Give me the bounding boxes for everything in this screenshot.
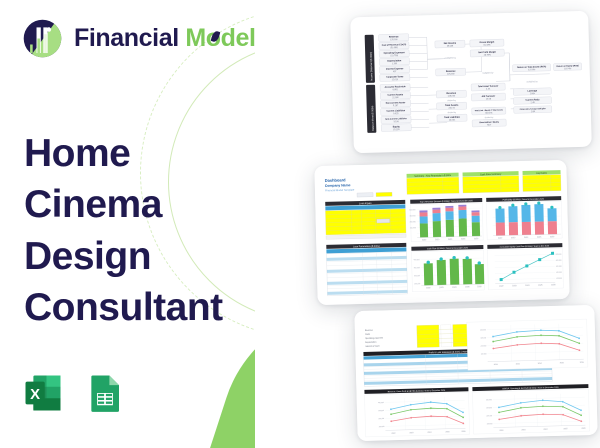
- financial-model-circle-chart-logo-icon: [22, 18, 63, 59]
- svg-text:300,000: 300,000: [556, 266, 562, 268]
- file-format-icons: X: [22, 372, 126, 414]
- svg-text:2023: 2023: [410, 432, 414, 434]
- svg-text:200,000: 200,000: [486, 415, 492, 417]
- svg-text:2024: 2024: [525, 285, 529, 287]
- svg-text:450,000: 450,000: [409, 215, 415, 217]
- svg-text:(51,680): (51,680): [390, 47, 398, 49]
- page-title-line-3: Design: [24, 231, 223, 282]
- svg-text:2024: 2024: [428, 432, 432, 434]
- svg-text:2022: 2022: [498, 238, 502, 240]
- svg-text:300,000: 300,000: [410, 221, 416, 223]
- svg-text:100,000: 100,000: [379, 426, 385, 428]
- svg-text:2024: 2024: [524, 237, 528, 239]
- brand-name-part1: Financial: [74, 24, 179, 52]
- svg-text:2025: 2025: [560, 362, 564, 364]
- svg-text:100,000: 100,000: [487, 423, 493, 425]
- svg-text:Financial Model Template: Financial Model Template: [325, 188, 355, 193]
- svg-text:2022: 2022: [426, 287, 430, 289]
- svg-text:2023: 2023: [516, 363, 520, 365]
- svg-text:2026: 2026: [462, 431, 466, 433]
- svg-text:300,000: 300,000: [486, 407, 492, 409]
- dupont-flowchart-svg: Income Statement ($ 000s) Balance Sheet …: [356, 19, 585, 145]
- profitability-combo-chart: Profitability ($ 000s) | Years to Decemb…: [486, 196, 562, 240]
- brand-name-part2-post: del: [221, 24, 256, 52]
- svg-text:multiplied by: multiplied by: [445, 56, 456, 59]
- svg-text:2025: 2025: [563, 428, 567, 430]
- svg-text:2022: 2022: [499, 430, 503, 432]
- svg-text:(23,758): (23,758): [390, 55, 398, 57]
- svg-text:2022: 2022: [494, 364, 498, 366]
- svg-text:500,000: 500,000: [556, 254, 562, 256]
- svg-text:125,000: 125,000: [448, 95, 456, 97]
- svg-text:2022: 2022: [392, 433, 396, 435]
- svg-text:2022: 2022: [422, 239, 426, 241]
- svg-text:61.43%: 61.43%: [483, 44, 490, 46]
- financial-statements-sheet-svg: RevenueCosts Operating expensesDepreciat…: [354, 305, 597, 441]
- card-dashboard-spreadsheet[interactable]: Dashboard Company Name Financial Model T…: [314, 160, 569, 305]
- brand-logo: Financial Model: [22, 18, 256, 59]
- svg-text:multiplied by: multiplied by: [482, 71, 493, 74]
- svg-text:2026: 2026: [474, 238, 478, 240]
- svg-text:2024: 2024: [452, 287, 456, 289]
- svg-text:2023: 2023: [511, 237, 515, 239]
- svg-text:400,000: 400,000: [414, 259, 420, 261]
- svg-text:divided by: divided by: [485, 117, 494, 119]
- svg-text:2025: 2025: [537, 237, 541, 239]
- svg-text:2025: 2025: [446, 431, 450, 433]
- svg-text:300,000: 300,000: [378, 410, 384, 412]
- brand-name-part2-o-letter: o: [206, 26, 221, 51]
- revenue-trend-line-chart-3: EBITDA, Operating & Net Profit ($ 000s) …: [472, 384, 589, 434]
- card-financial-statements[interactable]: RevenueCosts Operating expensesDepreciat…: [354, 305, 597, 441]
- page-title-line-4: Consultant: [24, 282, 223, 333]
- svg-text:28,172: 28,172: [449, 107, 456, 109]
- page-title-line-1: Home: [24, 128, 223, 179]
- svg-text:150,000: 150,000: [410, 227, 416, 229]
- svg-text:2026: 2026: [581, 428, 585, 430]
- svg-text:Key Ratios: Key Ratios: [536, 172, 548, 175]
- svg-text:2026: 2026: [580, 362, 584, 364]
- svg-text:125,000: 125,000: [447, 73, 455, 75]
- svg-text:2024: 2024: [543, 429, 547, 431]
- svg-text:2023: 2023: [521, 429, 525, 431]
- google-sheets-icon[interactable]: [84, 372, 126, 414]
- svg-text:200,000: 200,000: [378, 418, 384, 420]
- flow-group-labels: Income Statement ($ 000s) Balance Sheet …: [365, 35, 377, 133]
- svg-text:12,010: 12,010: [392, 79, 399, 81]
- svg-text:Interest & Taxes: Interest & Taxes: [365, 345, 379, 348]
- svg-text:2025: 2025: [465, 286, 469, 288]
- svg-text:8,881: 8,881: [393, 89, 399, 91]
- svg-text:3,106: 3,106: [393, 121, 399, 123]
- svg-text:Loan Inputs: Loan Inputs: [359, 202, 372, 205]
- svg-text:400,000: 400,000: [556, 260, 562, 262]
- card-dupont-flowchart[interactable]: Income Statement ($ 000s) Balance Sheet …: [350, 11, 592, 154]
- svg-text:2024: 2024: [448, 239, 452, 241]
- svg-text:2023: 2023: [439, 287, 443, 289]
- svg-text:100,000: 100,000: [481, 353, 487, 355]
- svg-text:Company Name: Company Name: [325, 183, 351, 188]
- microsoft-excel-icon[interactable]: X: [22, 372, 64, 414]
- svg-text:86.11%: 86.11%: [485, 112, 492, 114]
- svg-text:Costs: Costs: [365, 333, 370, 336]
- stacked-revenue-bar-chart: Top 5 Revenue Streams ($ 000s) | Years t…: [409, 198, 483, 242]
- svg-text:X: X: [30, 387, 40, 403]
- svg-text:Cash Flow Summary: Cash Flow Summary: [480, 173, 502, 177]
- svg-text:multiplied by: multiplied by: [526, 80, 537, 83]
- svg-text:Net Income: Net Income: [444, 42, 457, 45]
- svg-text:300,000: 300,000: [480, 337, 486, 339]
- dupont-flowchart: Income Statement ($ 000s) Balance Sheet …: [350, 11, 592, 154]
- svg-text:2022: 2022: [499, 286, 503, 288]
- svg-text:2023: 2023: [435, 239, 439, 241]
- financial-statements-sheet: RevenueCosts Operating expensesDepreciat…: [354, 305, 597, 441]
- svg-text:200,000: 200,000: [414, 275, 420, 277]
- svg-text:28.75%: 28.75%: [484, 54, 491, 56]
- svg-text:14.08: 14.08: [486, 98, 492, 100]
- cumulative-growth-line-chart: Cumulative Equity Cash Flow ($ 000s) | Y…: [487, 243, 563, 290]
- svg-text:Depreciation: Depreciation: [365, 341, 376, 344]
- poster-canvas: Financial Model Home Cinema Design Consu…: [0, 0, 600, 448]
- svg-text:22,080: 22,080: [392, 97, 399, 99]
- revenue-trend-line-chart-1: 20222023 202420252026 400,000300,000 200…: [467, 319, 588, 370]
- svg-text:15,135: 15,135: [393, 129, 400, 131]
- svg-text:200,000: 200,000: [481, 345, 487, 347]
- svg-text:200,000: 200,000: [556, 272, 562, 274]
- svg-text:9,025: 9,025: [393, 113, 399, 115]
- svg-text:600,000: 600,000: [409, 209, 415, 211]
- dashboard-sheet-svg: Dashboard Company Name Financial Model T…: [314, 160, 569, 305]
- svg-text:1,180: 1,180: [392, 63, 398, 65]
- svg-text:300,000: 300,000: [414, 267, 420, 269]
- svg-text:Dashboard: Dashboard: [325, 177, 347, 183]
- svg-text:400,000: 400,000: [480, 329, 486, 331]
- revenue-trend-line-chart-2: Revenue, Gross Profit & EBITDA ($ 000s) …: [364, 387, 469, 437]
- svg-text:2023: 2023: [512, 285, 516, 287]
- dashboard-sheet: Dashboard Company Name Financial Model T…: [314, 160, 569, 305]
- cash-flow-bar-chart: Cash Flow ($ 000s) | Years to December 2…: [411, 245, 484, 292]
- svg-text:100,000: 100,000: [414, 283, 420, 285]
- svg-text:237.4%: 237.4%: [564, 68, 571, 70]
- svg-text:125,000: 125,000: [390, 39, 398, 41]
- svg-text:2026: 2026: [477, 286, 481, 288]
- svg-text:2026: 2026: [551, 284, 555, 286]
- svg-text:127.6%: 127.6%: [528, 69, 535, 71]
- page-title-line-2: Cinema: [24, 179, 223, 230]
- svg-text:100,000: 100,000: [556, 278, 562, 280]
- svg-text:400,000: 400,000: [378, 402, 384, 404]
- svg-text:Operating expenses: Operating expenses: [365, 336, 383, 339]
- svg-text:2025: 2025: [538, 285, 542, 287]
- svg-text:35,935: 35,935: [447, 45, 454, 47]
- svg-text:2025: 2025: [461, 238, 465, 240]
- svg-text:13,031: 13,031: [449, 119, 456, 121]
- svg-text:Revenue: Revenue: [365, 330, 374, 332]
- page-title: Home Cinema Design Consultant: [24, 128, 223, 334]
- svg-text:5,187: 5,187: [393, 105, 399, 107]
- svg-text:400,000: 400,000: [486, 399, 492, 401]
- brand-name: Financial Model: [74, 26, 256, 51]
- svg-text:divided by: divided by: [448, 112, 457, 114]
- brand-name-part2-pre: M: [185, 24, 205, 52]
- svg-text:2026: 2026: [550, 236, 554, 238]
- svg-text:2024: 2024: [538, 363, 542, 365]
- svg-text:divided by: divided by: [447, 100, 456, 102]
- loan-parameters-table: Loan Parameters ($ 000s): [326, 243, 407, 296]
